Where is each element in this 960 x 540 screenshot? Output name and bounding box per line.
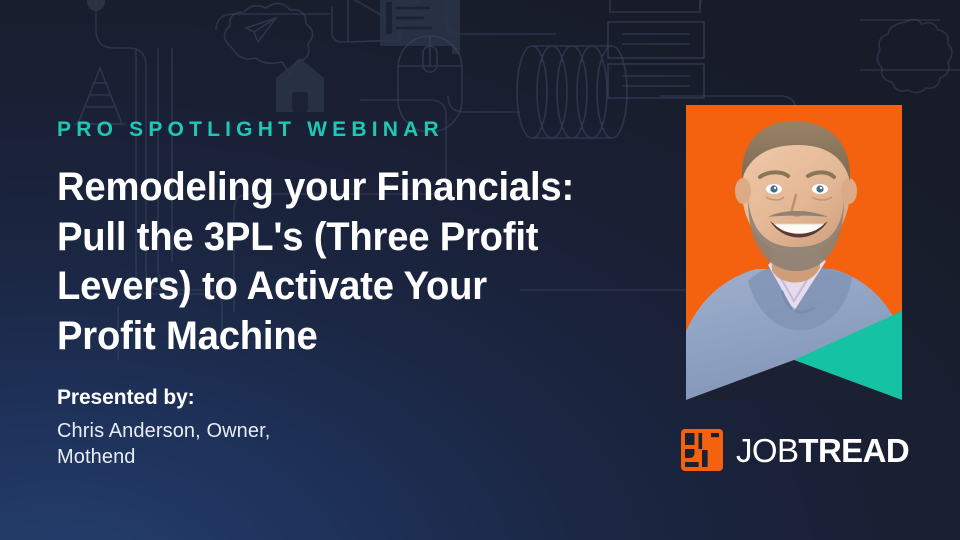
presented-by-label: Presented by: (57, 386, 195, 410)
brand-word-job: JOB (736, 432, 798, 469)
page-title: Remodeling your Financials: Pull the 3PL… (57, 163, 577, 361)
brand-word-tread: TREAD (798, 432, 909, 469)
speaker-portrait-panel (686, 105, 902, 400)
brand-wordmark: JOBTREAD (736, 434, 909, 467)
presenter-name-line2: Mothend (57, 444, 477, 470)
presenter-block: Chris Anderson, Owner, Mothend (57, 418, 477, 470)
presenter-name-line1: Chris Anderson, Owner, (57, 418, 477, 444)
speaker-portrait (686, 105, 902, 400)
gear-icon (877, 19, 952, 92)
webinar-promo-slide: PRO SPOTLIGHT WEBINAR Remodeling your Fi… (0, 0, 960, 540)
text-column: PRO SPOTLIGHT WEBINAR Remodeling your Fi… (57, 0, 657, 540)
eyebrow-label: PRO SPOTLIGHT WEBINAR (57, 118, 444, 142)
brand-logo: JOBTREAD (681, 429, 909, 471)
jobtread-logo-mark (681, 429, 723, 471)
